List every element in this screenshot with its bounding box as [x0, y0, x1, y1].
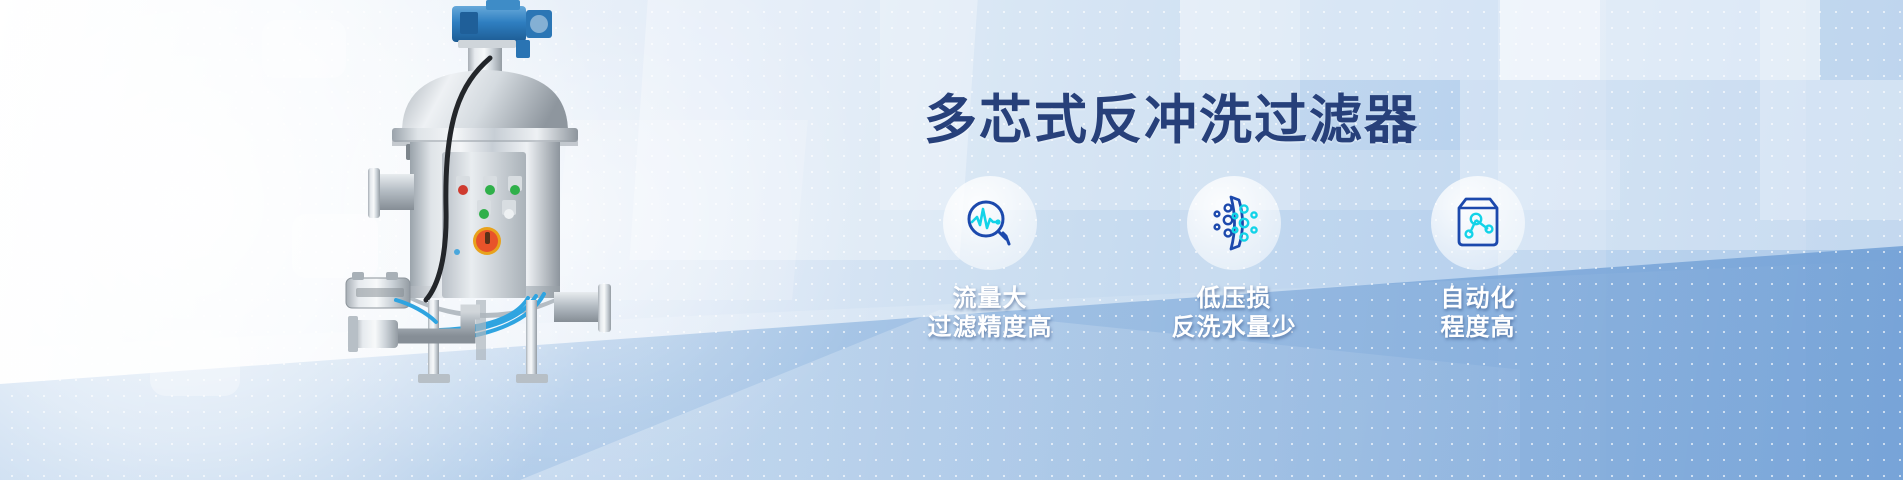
feature-label: 流量大 过滤精度高: [928, 284, 1053, 343]
indicator-light-white: [504, 209, 514, 219]
feature-item-automation: 自动化 程度高: [1388, 176, 1568, 343]
magnifier-waveform-icon: [962, 195, 1018, 251]
product-outlet-nozzle: [554, 284, 611, 332]
feature-icon-wrapper: [1187, 176, 1281, 270]
product-banner: 多芯式反冲洗过滤器 流量大 过滤精度高: [0, 0, 1903, 480]
banner-content: 多芯式反冲洗过滤器 流量大 过滤精度高: [900, 0, 1600, 480]
feature-line-1: 流量大: [953, 285, 1028, 312]
feature-label: 低压损 反洗水量少: [1172, 284, 1297, 343]
feature-list: 流量大 过滤精度高: [900, 176, 1568, 343]
product-flange: [392, 128, 578, 142]
product-illustration: [340, 0, 680, 390]
indicator-light-green: [510, 185, 520, 195]
indicator-light-green: [485, 185, 495, 195]
page-title: 多芯式反冲洗过滤器: [924, 78, 1419, 154]
membrane-bubbles-icon: [1206, 194, 1262, 252]
product-image: [340, 0, 680, 390]
feature-line-1: 自动化: [1441, 285, 1516, 312]
product-dome: [402, 70, 568, 132]
product-inlet-nozzle: [368, 168, 414, 218]
feature-line-2: 程度高: [1441, 313, 1516, 342]
feature-item-flow: 流量大 过滤精度高: [900, 176, 1080, 343]
feature-line-2: 过滤精度高: [928, 313, 1053, 342]
feature-label: 自动化 程度高: [1441, 284, 1516, 343]
feature-line-1: 低压损: [1197, 285, 1272, 312]
indicator-light-green: [479, 209, 489, 219]
feature-item-pressure: 低压损 反洗水量少: [1144, 176, 1324, 343]
feature-icon-wrapper: [943, 176, 1037, 270]
product-control-panel: [442, 152, 526, 298]
automation-box-nodes-icon: [1450, 195, 1506, 251]
feature-line-2: 反洗水量少: [1172, 313, 1297, 342]
product-drain-pipework: [348, 312, 480, 352]
indicator-light-red: [458, 185, 468, 195]
feature-icon-wrapper: [1431, 176, 1525, 270]
